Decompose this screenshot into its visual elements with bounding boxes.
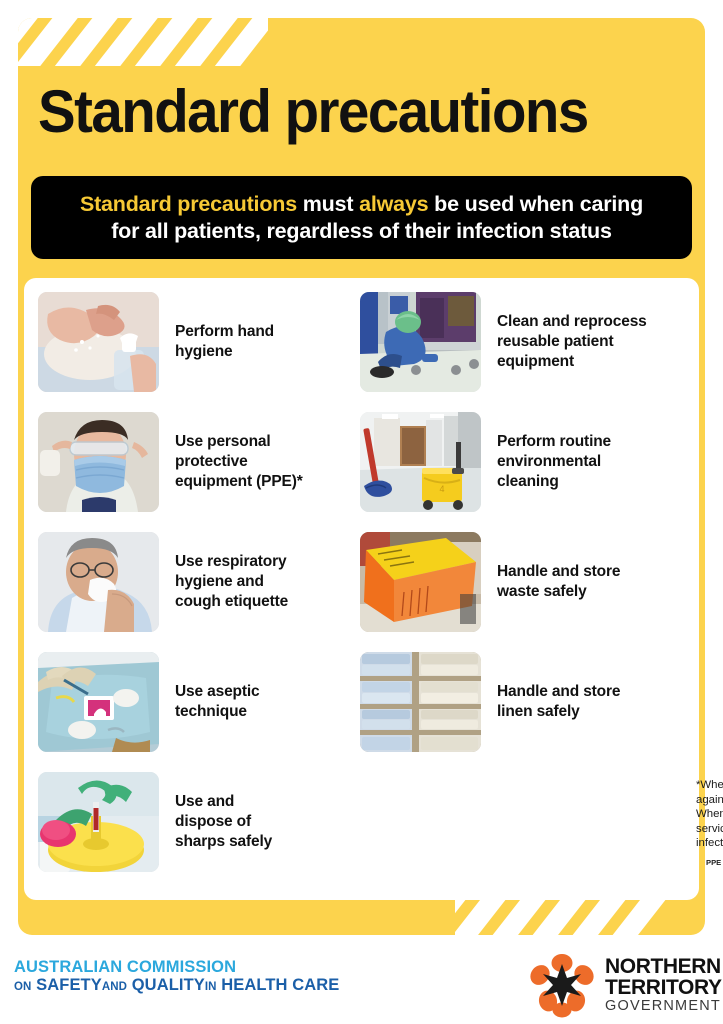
hand-hygiene-photo xyxy=(38,292,159,392)
list-item-environmental-cleaning: 4 Perform routine environmental cleaning xyxy=(360,412,611,512)
statement-banner-text: Standard precautions must always be used… xyxy=(80,191,643,245)
acsqhc-logo: AUSTRALIAN COMMISSION ON SAFETYAND QUALI… xyxy=(14,958,339,997)
acsqhc-word-quality: QUALITY xyxy=(132,976,205,994)
list-item-label: Use respiratory hygiene and cough etique… xyxy=(175,552,288,612)
poster-root: Standard precautions Standard precaution… xyxy=(0,0,723,1024)
statement-banner: Standard precautions must always be used… xyxy=(31,176,692,259)
acsqhc-word-health-care: HEALTH CARE xyxy=(221,976,339,994)
list-item-respiratory-hygiene: Use respiratory hygiene and cough etique… xyxy=(38,532,288,632)
list-item-label: Use personal protective equipment (PPE)* xyxy=(175,432,303,492)
banner-text-line2: for all patients, regardless of their in… xyxy=(111,219,612,243)
banner-highlight-always: always xyxy=(359,192,428,216)
nt-government-logo: NORTHERN TERRITORY GOVERNMENT xyxy=(528,952,722,1018)
linen-storage-photo xyxy=(360,652,481,752)
banner-text-must: must xyxy=(297,192,359,216)
list-item-label: Use and dispose of sharps safely xyxy=(175,792,272,852)
nt-flower-star-icon xyxy=(528,952,596,1018)
ntg-line-government: GOVERNMENT xyxy=(605,998,722,1015)
image-credit-line: PPE image reproduced with permission of … xyxy=(706,858,723,868)
list-item-label: Use aseptic technique xyxy=(175,682,260,722)
nt-government-wordmark: NORTHERN TERRITORY GOVERNMENT xyxy=(605,956,722,1015)
list-item-label: Handle and store waste safely xyxy=(497,562,620,602)
reprocess-equipment-photo xyxy=(360,292,481,392)
footnote-part-1: *When used as part of xyxy=(696,779,723,791)
sharps-disposal-photo xyxy=(38,772,159,872)
acsqhc-line-1: AUSTRALIAN COMMISSION xyxy=(14,958,339,976)
list-item-use-ppe: Use personal protective equipment (PPE)* xyxy=(38,412,303,512)
cough-etiquette-photo xyxy=(38,532,159,632)
list-item-handle-store-linen: Handle and store linen safely xyxy=(360,652,620,752)
svg-text:4: 4 xyxy=(439,484,444,494)
list-item-perform-hand-hygiene: Perform hand hygiene xyxy=(38,292,274,392)
list-item-label: Clean and reprocess reusable patient equ… xyxy=(497,312,647,372)
acsqhc-word-in: IN xyxy=(205,981,217,993)
acsqhc-word-safety: SAFETY xyxy=(36,976,102,994)
top-left-stripe-decoration xyxy=(18,18,268,66)
clinical-waste-photo xyxy=(360,532,481,632)
ppe-goggles-mask-photo xyxy=(38,412,159,512)
ntg-line-northern: NORTHERN xyxy=(605,956,722,977)
banner-text-rest: be used when caring xyxy=(428,192,643,216)
content-card: Perform hand hygiene xyxy=(24,278,699,900)
acsqhc-word-and: AND xyxy=(102,981,127,993)
list-item-handle-store-waste: Handle and store waste safely xyxy=(360,532,620,632)
ntg-line-territory: TERRITORY xyxy=(605,977,722,998)
list-item-label: Perform routine environmental cleaning xyxy=(497,432,611,492)
aseptic-technique-photo xyxy=(38,652,159,752)
environmental-cleaning-photo: 4 xyxy=(360,412,481,512)
list-item-clean-reprocess-equipment: Clean and reprocess reusable patient equ… xyxy=(360,292,647,392)
list-item-label: Perform hand hygiene xyxy=(175,322,274,362)
acsqhc-word-on: ON xyxy=(14,981,31,993)
acsqhc-line-2: ON SAFETYAND QUALITYIN HEALTH CARE xyxy=(14,976,339,997)
list-item-label: Handle and store linen safely xyxy=(497,682,620,722)
list-item-aseptic-technique: Use aseptic technique xyxy=(38,652,260,752)
list-item-sharps-disposal: Use and dispose of sharps safely xyxy=(38,772,272,872)
ppe-footnote: *When used as part of standard precautio… xyxy=(696,778,723,851)
banner-highlight-standard-precautions: Standard precautions xyxy=(80,192,297,216)
page-title: Standard precautions xyxy=(38,82,658,142)
